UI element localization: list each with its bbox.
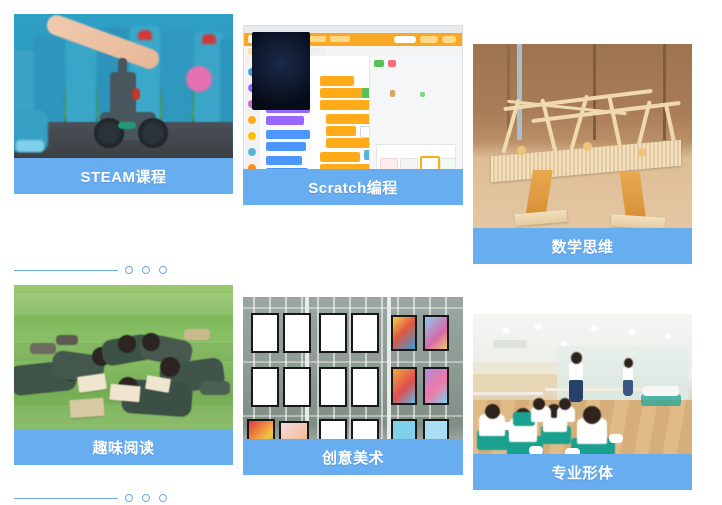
- pager-line-icon: [14, 498, 118, 499]
- circle-outline-icon[interactable]: [142, 266, 150, 274]
- course-caption-scratch: Scratch编程: [243, 169, 463, 205]
- circle-outline-icon[interactable]: [142, 494, 150, 502]
- course-caption-dance: 专业形体: [473, 454, 692, 490]
- circle-outline-icon[interactable]: [125, 494, 133, 502]
- course-caption-art: 创意美术: [243, 439, 463, 475]
- course-caption-math: 数学思维: [473, 228, 692, 264]
- course-card-scratch[interactable]: Scratch编程: [243, 25, 463, 205]
- course-caption-reading: 趣味阅读: [14, 429, 233, 465]
- circle-outline-icon[interactable]: [125, 266, 133, 274]
- carousel-pager-row-1[interactable]: [14, 263, 167, 277]
- circle-outline-icon[interactable]: [159, 266, 167, 274]
- course-card-dance[interactable]: 专业形体: [473, 314, 692, 490]
- course-card-math[interactable]: 数学思维: [473, 44, 692, 264]
- pager-dots: [125, 494, 167, 502]
- pager-dots: [125, 266, 167, 274]
- course-card-reading[interactable]: 趣味阅读: [14, 285, 233, 465]
- course-caption-steam: STEAM课程: [14, 158, 233, 194]
- circle-outline-icon[interactable]: [159, 494, 167, 502]
- pager-line-icon: [14, 270, 118, 271]
- course-card-steam[interactable]: STEAM课程: [14, 14, 233, 194]
- course-card-art[interactable]: 创意美术: [243, 297, 463, 475]
- carousel-pager-row-2[interactable]: [14, 491, 167, 505]
